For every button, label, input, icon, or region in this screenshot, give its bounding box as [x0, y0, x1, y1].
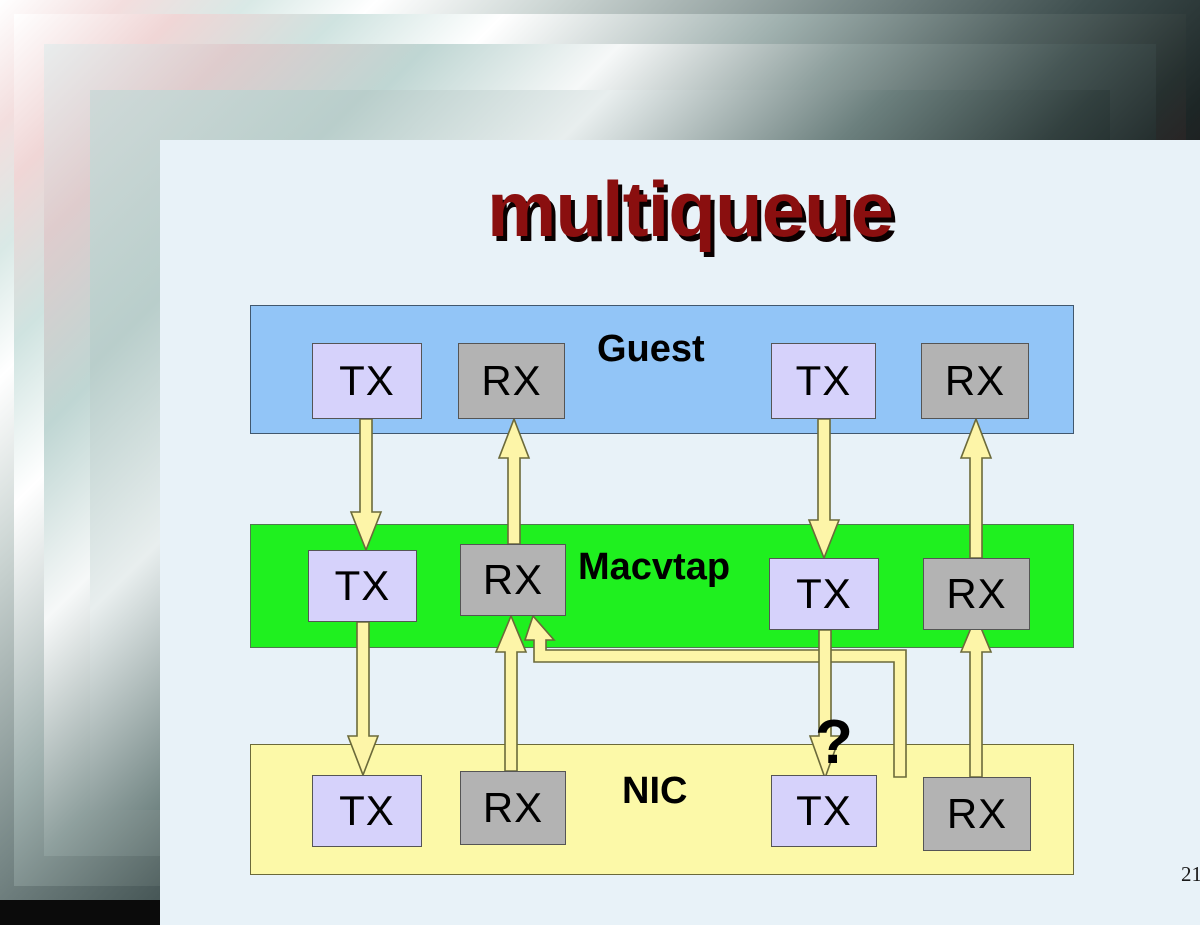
queue-box-label: RX	[483, 784, 543, 832]
queue-box-guest-tx-1[interactable]: TX	[771, 343, 876, 419]
slide-frame: multiqueue Guest Macvtap NIC .wire { fil…	[0, 0, 1200, 900]
queue-box-nic-tx-0[interactable]: TX	[312, 775, 422, 847]
arrow-nic-rx0-up	[496, 616, 526, 771]
page-number: 21	[1181, 862, 1200, 887]
queue-box-label: RX	[947, 790, 1007, 838]
frame-band-inner: multiqueue Guest Macvtap NIC .wire { fil…	[90, 90, 1110, 810]
frame-band-outer: multiqueue Guest Macvtap NIC .wire { fil…	[14, 14, 1186, 886]
queue-box-guest-rx-0[interactable]: RX	[458, 343, 565, 419]
arrow-mac-rx1-up	[961, 419, 991, 558]
queue-box-label: TX	[796, 787, 852, 835]
queue-box-label: TX	[339, 787, 395, 835]
queue-box-label: RX	[945, 357, 1005, 405]
queue-box-nic-tx-1[interactable]: TX	[771, 775, 877, 847]
queue-box-label: RX	[481, 357, 541, 405]
frame-band-middle: multiqueue Guest Macvtap NIC .wire { fil…	[44, 44, 1156, 856]
slide-canvas: multiqueue Guest Macvtap NIC .wire { fil…	[160, 140, 1200, 925]
queue-box-label: TX	[335, 562, 391, 610]
queue-box-label: TX	[796, 357, 852, 405]
arrow-mac-rx0-up	[499, 419, 529, 544]
queue-box-macvtap-tx-0[interactable]: TX	[308, 550, 417, 622]
queue-box-label: TX	[339, 357, 395, 405]
queue-box-guest-tx-0[interactable]: TX	[312, 343, 422, 419]
queue-box-guest-rx-1[interactable]: RX	[921, 343, 1029, 419]
arrow-guest-tx1-down	[809, 419, 839, 558]
queue-box-label: RX	[946, 570, 1006, 618]
queue-box-macvtap-rx-1[interactable]: RX	[923, 558, 1030, 630]
queue-box-macvtap-tx-1[interactable]: TX	[769, 558, 879, 630]
arrow-mac-tx0-down	[348, 622, 378, 775]
queue-box-label: RX	[483, 556, 543, 604]
queue-box-nic-rx-1[interactable]: RX	[923, 777, 1031, 851]
arrow-nic-rx1-up	[961, 616, 991, 777]
uncertain-path-question-icon: ?	[815, 712, 853, 774]
queue-box-macvtap-rx-0[interactable]: RX	[460, 544, 566, 616]
queue-box-label: TX	[796, 570, 852, 618]
queue-box-nic-rx-0[interactable]: RX	[460, 771, 566, 845]
arrow-guest-tx0-down	[351, 419, 381, 550]
